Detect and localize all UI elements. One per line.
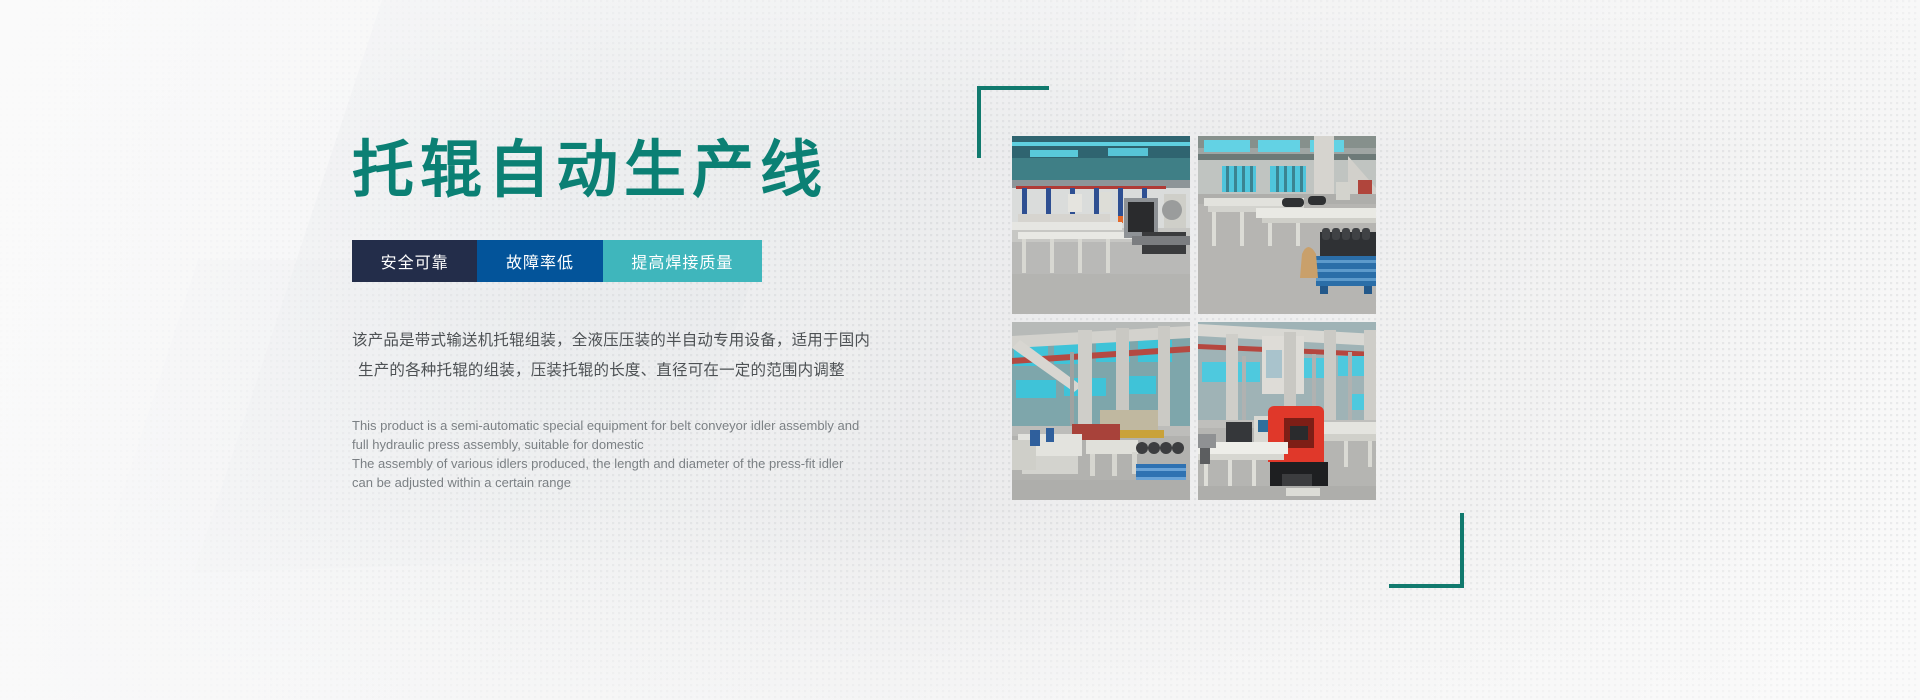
- banner-text-column: 托辊自动生产线 安全可靠 故障率低 提高焊接质量 该产品是带式输送机托辊组装，全…: [352, 140, 952, 492]
- factory-photo-red-welding-machine[interactable]: [1198, 322, 1376, 500]
- feature-badge-row: 安全可靠 故障率低 提高焊接质量: [352, 240, 762, 282]
- badge-safe-reliable[interactable]: 安全可靠: [352, 240, 477, 282]
- background-dot-pattern: [0, 0, 1920, 700]
- factory-photo-conveyor-line[interactable]: [1012, 136, 1190, 314]
- description-english: This product is a semi-automatic special…: [352, 416, 897, 492]
- background-fade-overlay: [0, 0, 1920, 700]
- photo-4-image: [1198, 322, 1376, 500]
- description-english-paragraph-2: The assembly of various idlers produced,…: [352, 454, 897, 492]
- description-chinese-line-2: 生产的各种托辊的组装，压装托辊的长度、直径可在一定的范围内调整: [352, 356, 912, 386]
- photo-grid: [1012, 136, 1412, 536]
- factory-photo-idler-rollers-crate[interactable]: [1198, 136, 1376, 314]
- photo-3-image: [1012, 322, 1190, 500]
- description-english-line-4: can be adjusted within a certain range: [352, 475, 571, 490]
- product-photo-gallery: [1012, 136, 1412, 536]
- description-chinese-line-1: 该产品是带式输送机托辊组装，全液压压装的半自动专用设备，适用于国内: [352, 326, 912, 356]
- badge-improve-weld-quality[interactable]: 提高焊接质量: [603, 240, 762, 282]
- description-chinese: 该产品是带式输送机托辊组装，全液压压装的半自动专用设备，适用于国内 生产的各种托…: [352, 326, 912, 386]
- description-english-line-1: This product is a semi-automatic special…: [352, 418, 859, 433]
- badge-low-failure-rate[interactable]: 故障率低: [477, 240, 602, 282]
- description-english-line-3: The assembly of various idlers produced,…: [352, 456, 843, 471]
- description-english-line-2: full hydraulic press assembly, suitable …: [352, 437, 644, 452]
- page-title: 托辊自动生产线: [352, 140, 952, 202]
- product-banner: 托辊自动生产线 安全可靠 故障率低 提高焊接质量 该产品是带式输送机托辊组装，全…: [0, 0, 1920, 700]
- description-english-paragraph-1: This product is a semi-automatic special…: [352, 416, 897, 454]
- factory-photo-assembly-workshop[interactable]: [1012, 322, 1190, 500]
- photo-1-image: [1012, 136, 1190, 314]
- photo-2-image: [1198, 136, 1376, 314]
